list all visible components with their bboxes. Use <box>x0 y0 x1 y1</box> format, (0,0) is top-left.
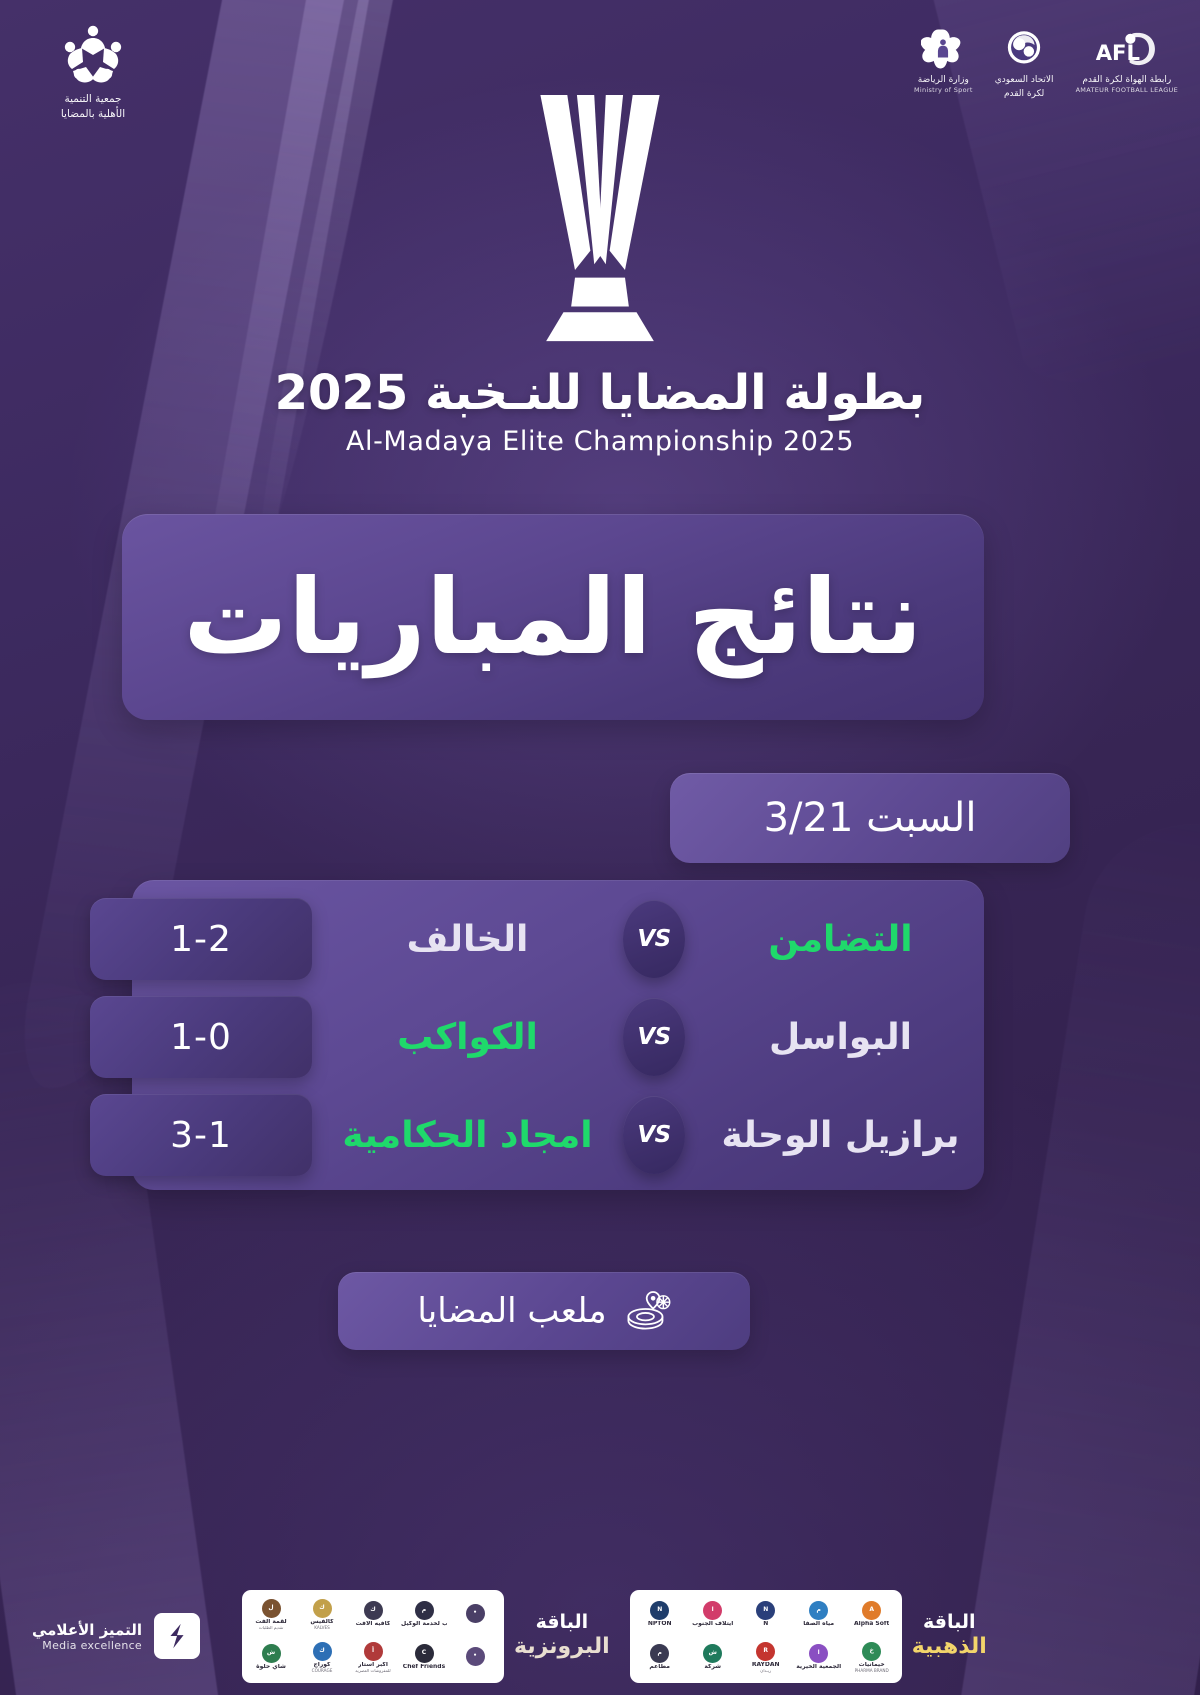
partner-logo-ministry-of-sport: وزارة الرياضة Ministry of Sport <box>914 26 973 94</box>
sponsor-mark-icon: ش <box>703 1644 722 1663</box>
vs-badge: VS <box>623 900 685 978</box>
sponsor-name: Chef Friends <box>403 1664 445 1671</box>
results-heading-panel: نتائج المباريات <box>122 514 984 720</box>
venue-badge: ملعب المضايا <box>338 1272 750 1350</box>
vs-badge: VS <box>623 998 685 1076</box>
saudi-football-federation-icon <box>995 26 1054 72</box>
sponsor-logo: ششركة <box>689 1638 737 1678</box>
sponsor-logo: أأكبر استارللمفروشات العصرية <box>350 1638 396 1678</box>
gold-sponsor-logos: NNPTONاايتلاف الجنوبNNممياه الصفاAAlpha … <box>630 1590 902 1683</box>
away-team-name: الخالف <box>318 919 617 960</box>
sponsor-logo: ككالفيسKALVES <box>299 1595 345 1635</box>
partner-label-ar: الاتحاد السعودي <box>995 75 1054 86</box>
home-team-name: برازيل الوحلة <box>691 1115 990 1156</box>
sponsor-mark-icon: ل <box>262 1599 281 1618</box>
media-label-ar: التميز الأعلامي <box>32 1621 142 1639</box>
venue-name: ملعب المضايا <box>417 1291 606 1331</box>
partner-label-ar: وزارة الرياضة <box>914 75 973 86</box>
gold-label-line1: الباقة <box>912 1611 987 1634</box>
sponsor-logo: ككافيه الأفت <box>350 1595 396 1635</box>
sponsor-mark-icon: ك <box>313 1642 332 1661</box>
sponsor-mark-icon: م <box>415 1601 434 1620</box>
sponsor-mark-icon: • <box>466 1604 485 1623</box>
match-score: 1-0 <box>90 996 312 1078</box>
sponsor-subtitle: للمفروشات العصرية <box>355 1669 390 1674</box>
sponsor-mark-icon: ا <box>809 1644 828 1663</box>
media-excellence-icon <box>154 1613 200 1659</box>
svg-text:AFL: AFL <box>1095 40 1139 65</box>
media-label-en: Media excellence <box>32 1639 142 1652</box>
sponsor-mark-icon: C <box>415 1644 434 1663</box>
away-team-name: الكواكب <box>318 1017 617 1058</box>
sponsor-subtitle: PHARMA BRAND <box>855 1669 889 1674</box>
sponsor-mark-icon: م <box>809 1601 828 1620</box>
match-date-badge: السبت 3/21 <box>670 773 1070 863</box>
sponsor-name: مطاعم <box>649 1664 670 1671</box>
home-team-name: التضامن <box>691 919 990 960</box>
sponsor-name: ايتلاف الجنوب <box>692 1621 733 1628</box>
sponsor-logo: CChef Friends <box>401 1638 447 1678</box>
afl-icon: AFL <box>1076 26 1178 72</box>
sponsor-logo: اايتلاف الجنوب <box>689 1595 737 1635</box>
sponsor-name: NPTON <box>648 1621 672 1628</box>
partner-label-ar: رابطة الهواة لكرة القدم <box>1076 75 1178 86</box>
background-swoosh <box>961 808 1200 1695</box>
match-row: برازيل الوحلةVSامجاد الحكامية3-1 <box>90 1094 990 1176</box>
vs-badge: VS <box>623 1096 685 1174</box>
sponsor-name: الجمعية الخيرية <box>796 1664 841 1671</box>
people-star-icon <box>61 22 125 86</box>
sponsor-mark-icon: N <box>756 1601 775 1620</box>
sponsor-name: شاي حلوة <box>256 1664 286 1671</box>
partner-logo-afl: AFL رابطة الهواة لكرة القدم AMATEUR FOOT… <box>1076 26 1178 94</box>
bronze-sponsor-logos: للقمة الفتتقديم الطلباتككالفيسKALVESككاف… <box>242 1590 504 1683</box>
sponsor-logo: للقمة الفتتقديم الطلبات <box>248 1595 294 1635</box>
sponsor-name: شركة <box>704 1664 721 1671</box>
sponsor-name: Alpha Soft <box>854 1621 889 1628</box>
match-score: 3-1 <box>90 1094 312 1176</box>
gold-tier-label: الباقة الذهبية <box>912 1611 987 1661</box>
tournament-title: بطولة المضايا للنـخبة 2025 Al-Madaya Eli… <box>0 368 1200 457</box>
sponsor-subtitle: KALVES <box>314 1626 330 1631</box>
sponsor-logo: ككوراجCOURAGE <box>299 1638 345 1678</box>
sponsor-logo: • <box>452 1638 498 1678</box>
sponsor-logo: ممطاعم <box>636 1638 684 1678</box>
sponsor-logo: ممكاتب لخدمة الوكيل <box>401 1595 447 1635</box>
sponsor-mark-icon: ك <box>313 1599 332 1618</box>
sponsor-name: مياه الصفا <box>803 1621 834 1628</box>
page-title: نتائج المباريات <box>183 565 922 669</box>
gold-label-line2: الذهبية <box>912 1634 987 1661</box>
sponsor-mark-icon: N <box>650 1601 669 1620</box>
sponsor-logo: NN <box>742 1595 790 1635</box>
match-date-label: السبت 3/21 <box>764 795 977 841</box>
sponsor-mark-icon: م <box>650 1644 669 1663</box>
bronze-label-line1: الباقة <box>514 1611 610 1634</box>
sponsor-logo: ممياه الصفا <box>795 1595 843 1635</box>
ministry-of-sport-icon <box>914 26 973 72</box>
sponsor-subtitle: ريـدان <box>760 1669 771 1674</box>
tournament-title-en: Al-Madaya Elite Championship 2025 <box>0 426 1200 457</box>
sponsor-logo: خخيمانياتPHARMA BRAND <box>848 1638 896 1678</box>
sponsor-logo: االجمعية الخيرية <box>795 1638 843 1678</box>
matches-list: التضامنVSالخالف1-2البواسلVSالكواكب1-0برا… <box>90 898 990 1192</box>
media-excellence-block: التميز الأعلامي Media excellence <box>0 1577 232 1695</box>
poster-root: جمعية التنمية الأهلية بالمضايا <box>0 0 1200 1695</box>
bronze-tier-block: للقمة الفتتقديم الطلباتككالفيسKALVESككاف… <box>232 1577 620 1695</box>
sponsor-mark-icon: ك <box>364 1601 383 1620</box>
match-score: 1-2 <box>90 898 312 980</box>
sponsor-mark-icon: A <box>862 1601 881 1620</box>
sponsor-logo: RRAYDANريـدان <box>742 1638 790 1678</box>
bronze-label-line2: البرونزية <box>514 1634 610 1661</box>
sponsor-logo: ششاي حلوة <box>248 1638 294 1678</box>
trophy-icon <box>0 88 1200 354</box>
sponsor-subtitle: COURAGE <box>312 1669 333 1674</box>
sponsor-logo: NNPTON <box>636 1595 684 1635</box>
gold-tier-block: NNPTONاايتلاف الجنوبNNممياه الصفاAAlpha … <box>620 1577 997 1695</box>
tournament-title-ar: بطولة المضايا للنـخبة 2025 <box>0 368 1200 420</box>
sponsor-name: كافيه الأفت <box>356 1621 391 1628</box>
home-team-name: البواسل <box>691 1017 990 1058</box>
sponsor-mark-icon: ش <box>262 1644 281 1663</box>
sponsor-logo: AAlpha Soft <box>848 1595 896 1635</box>
away-team-name: امجاد الحكامية <box>318 1115 617 1156</box>
sponsor-logo: • <box>452 1595 498 1635</box>
sponsor-mark-icon: ا <box>703 1601 722 1620</box>
sponsor-mark-icon: R <box>756 1642 775 1661</box>
bronze-tier-label: الباقة البرونزية <box>514 1611 610 1661</box>
sponsor-name: مكاتب لخدمة الوكيل <box>401 1621 447 1628</box>
match-row: البواسلVSالكواكب1-0 <box>90 996 990 1078</box>
stadium-location-icon <box>625 1288 671 1334</box>
sponsor-mark-icon: أ <box>364 1642 383 1661</box>
sponsor-mark-icon: • <box>466 1647 485 1666</box>
sponsor-name: N <box>763 1621 768 1628</box>
sponsor-bar: التميز الأعلامي Media excellence للقمة ا… <box>0 1577 1200 1695</box>
sponsor-subtitle: تقديم الطلبات <box>259 1626 284 1631</box>
sponsor-mark-icon: خ <box>862 1642 881 1661</box>
match-row: التضامنVSالخالف1-2 <box>90 898 990 980</box>
